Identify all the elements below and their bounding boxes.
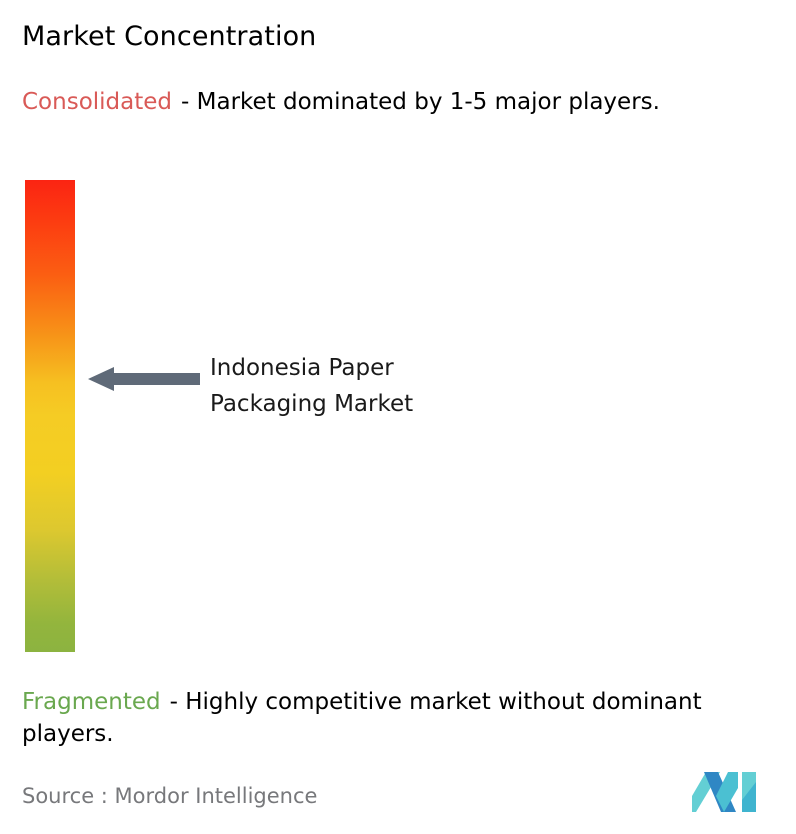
- legend-consolidated-keyword: Consolidated: [22, 89, 172, 115]
- concentration-gradient-bar: [25, 180, 75, 652]
- page-title: Market Concentration: [22, 20, 316, 54]
- legend-consolidated: Consolidated- Market dominated by 1-5 ma…: [22, 86, 774, 118]
- legend-consolidated-description: - Market dominated by 1-5 major players.: [181, 89, 660, 115]
- market-concentration-infographic: Market Concentration Consolidated- Marke…: [0, 0, 796, 834]
- market-position-arrow: [88, 366, 200, 392]
- legend-fragmented-keyword: Fragmented: [22, 689, 161, 715]
- market-position-label-line1: Indonesia Paper: [210, 350, 540, 386]
- legend-fragmented: Fragmented- Highly competitive market wi…: [22, 686, 784, 750]
- source-attribution: Source : Mordor Intelligence: [22, 782, 317, 810]
- left-arrow-icon: [88, 367, 200, 391]
- market-position-label-line2: Packaging Market: [210, 386, 540, 422]
- market-position-label: Indonesia Paper Packaging Market: [210, 350, 540, 422]
- mordor-intelligence-logo: [690, 768, 764, 816]
